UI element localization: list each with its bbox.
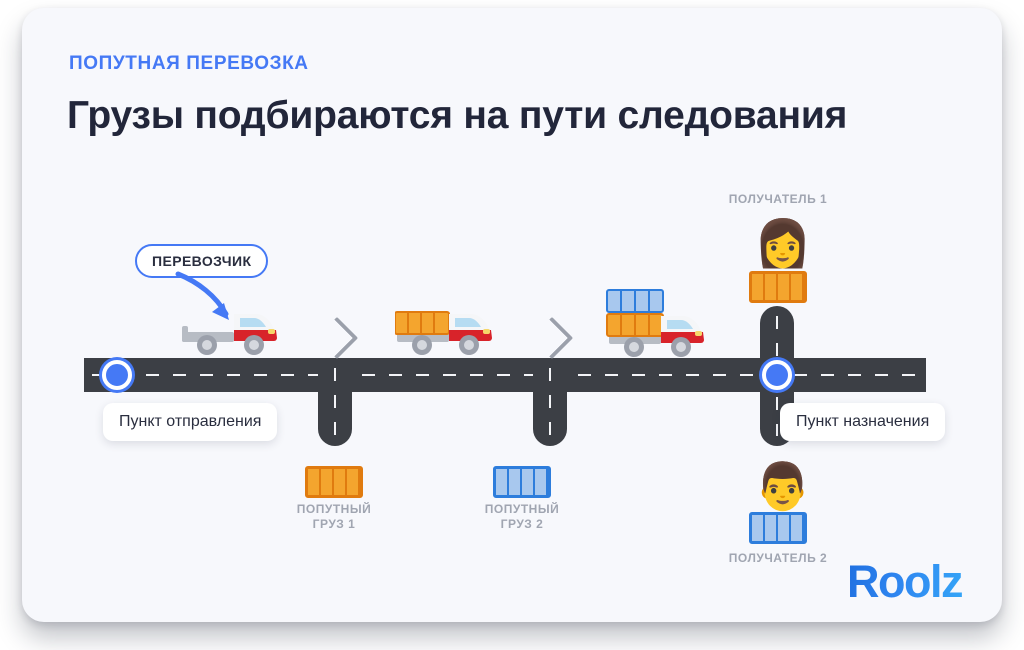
container-icon-recipient-2 (749, 512, 807, 544)
man-emoji: 👨 (754, 463, 811, 509)
marker-origin (102, 360, 132, 390)
origin-label: Пункт отправления (103, 403, 277, 441)
marker-destination (762, 360, 792, 390)
infographic-canvas: ПОПУТНАЯ ПЕРЕВОЗКА Грузы подбираются на … (0, 0, 1024, 650)
container-icon-recipient-1 (749, 271, 807, 303)
cargo-label-2: ПОПУТНЫЙ ГРУЗ 2 (452, 502, 592, 532)
recipient-2-label: ПОЛУЧАТЕЛЬ 2 (688, 551, 868, 565)
container-icon-cargo-2 (493, 466, 551, 498)
infographic-card: ПОПУТНАЯ ПЕРЕВОЗКА Грузы подбираются на … (22, 8, 1002, 622)
chevron-right-icon-1 (316, 317, 358, 359)
cargo-label-1: ПОПУТНЫЙ ГРУЗ 1 (264, 502, 404, 532)
recipient-1-label: ПОЛУЧАТЕЛЬ 1 (688, 192, 868, 206)
container-icon-cargo-1 (305, 466, 363, 498)
cargo-label-1-line2: ГРУЗ 1 (313, 517, 356, 531)
chevron-right-icon-2 (531, 317, 573, 359)
woman-emoji: 👩 (754, 220, 811, 266)
cargo-label-2-line1: ПОПУТНЫЙ (485, 502, 559, 516)
eyebrow-label: ПОПУТНАЯ ПЕРЕВОЗКА (69, 53, 309, 75)
road-branch-cargo-2 (533, 358, 567, 446)
truck-two-containers-icon (605, 276, 705, 364)
cargo-label-2-line2: ГРУЗ 2 (501, 517, 544, 531)
truck-one-container-icon (395, 300, 493, 362)
road-horizontal (84, 358, 926, 392)
cargo-label-1-line1: ПОПУТНЫЙ (297, 502, 371, 516)
page-title: Грузы подбираются на пути следования (67, 94, 847, 138)
road-branch-cargo-1 (318, 358, 352, 446)
truck-empty-icon (180, 300, 278, 362)
destination-label: Пункт назначения (780, 403, 945, 441)
roolz-logo: Roolz (847, 556, 962, 608)
